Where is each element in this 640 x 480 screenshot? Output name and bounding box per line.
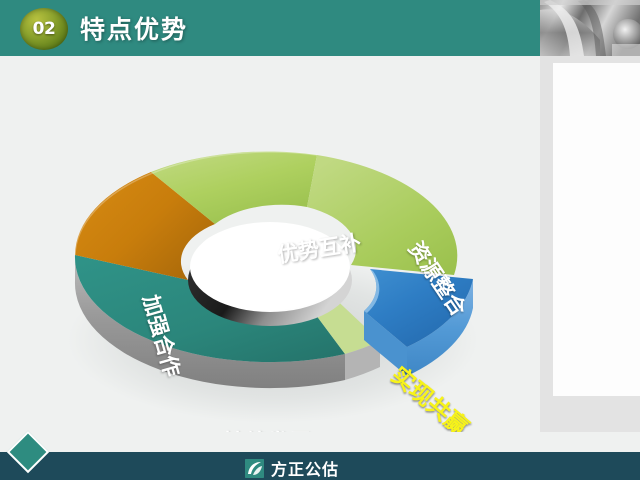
section-number-badge: 02 <box>20 8 68 50</box>
footer-spacer <box>0 432 640 452</box>
industrial-pipes-photo <box>540 0 640 56</box>
right-side-white-panel <box>553 63 640 396</box>
section-number-text: 02 <box>33 19 56 39</box>
company-logo-icon <box>245 459 264 478</box>
slide-canvas: 02 特点优势 <box>0 0 640 480</box>
company-logo: 方正公估 <box>245 456 339 480</box>
company-logo-text: 方正公估 <box>271 456 339 480</box>
exploded-doughnut-chart: 优势互补 资源整合 实现共赢 持续发展 加强合作 <box>55 95 505 430</box>
page-title: 特点优势 <box>80 10 188 46</box>
hole-highlight <box>200 228 304 272</box>
